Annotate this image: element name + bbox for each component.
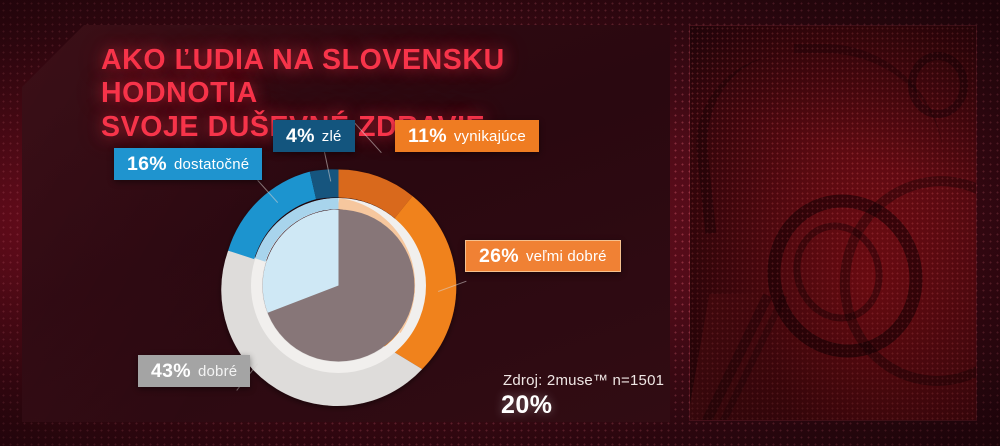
donut-chart-svg — [222, 169, 455, 402]
label-dobre[interactable]: 43% dobré — [138, 355, 250, 387]
label-dostatocne[interactable]: 16% dostatočné — [114, 148, 262, 180]
label-dostatocne-text: dostatočné — [174, 156, 249, 173]
label-dobre-text: dobré — [198, 363, 237, 380]
label-vynikajuce-pct: 11% — [408, 125, 447, 148]
label-vynikajuce-text: vynikajúce — [454, 128, 526, 145]
label-velmi-dobre-text: veľmi dobré — [526, 248, 607, 265]
page-title: AKO ĽUDIA NA SLOVENSKU HODNOTIA SVOJE DU… — [101, 44, 641, 144]
donut-chart: 20% — [222, 169, 455, 402]
label-zle-text: zlé — [322, 128, 342, 145]
stethoscope-photo — [690, 26, 976, 420]
label-velmi-dobre-pct: 26% — [479, 245, 519, 268]
photo-shading — [690, 26, 976, 420]
label-zle-pct: 4% — [286, 125, 315, 148]
label-dobre-pct: 43% — [151, 360, 191, 383]
label-zle[interactable]: 4% zlé — [273, 120, 355, 152]
center-percentage: 20% — [501, 391, 553, 420]
infographic-stage: AKO ĽUDIA NA SLOVENSKU HODNOTIA SVOJE DU… — [0, 0, 1000, 446]
source-note: Zdroj: 2muse™ n=1501 — [503, 372, 664, 389]
label-dostatocne-pct: 16% — [127, 153, 167, 176]
label-vynikajuce[interactable]: 11% vynikajúce — [395, 120, 539, 152]
label-velmi-dobre[interactable]: 26% veľmi dobré — [465, 240, 621, 272]
